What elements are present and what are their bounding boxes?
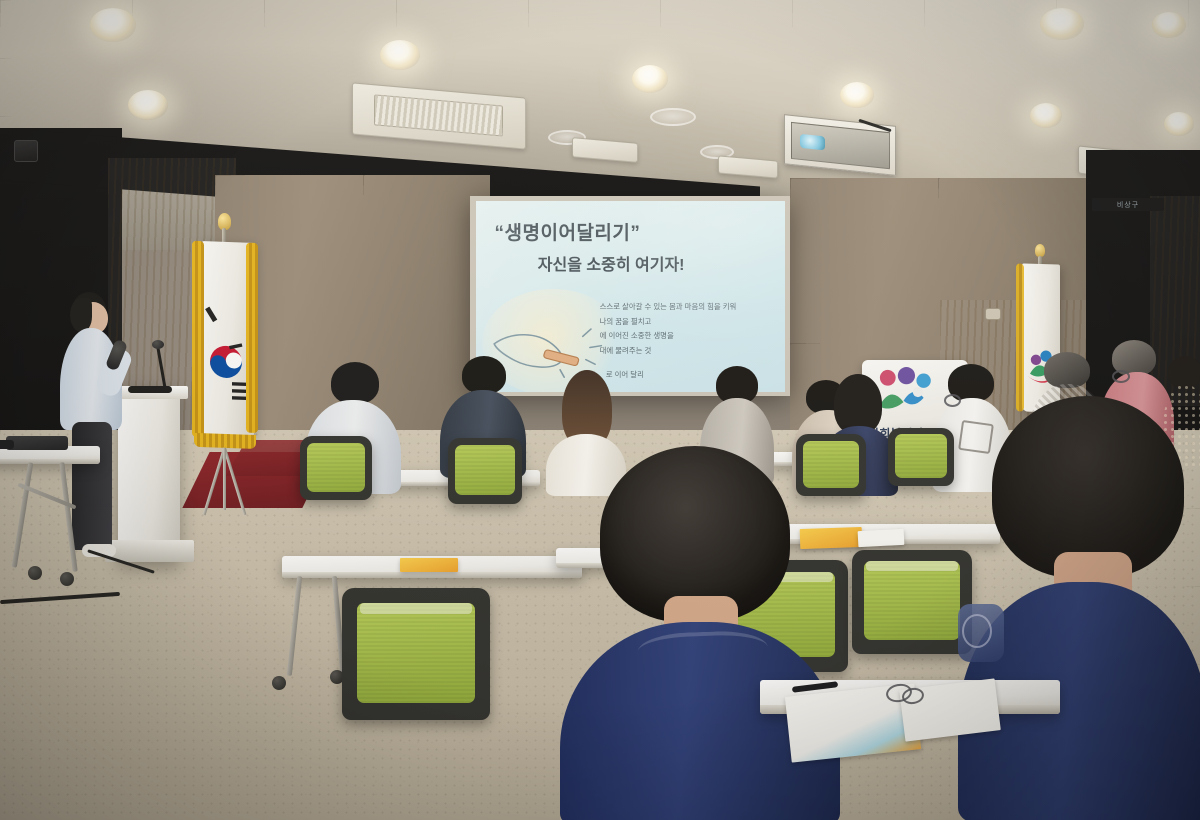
emergency-exit-sign: 비상구	[1092, 198, 1164, 211]
ceiling-downlight	[632, 65, 668, 93]
ceiling-light-ring	[650, 108, 696, 126]
flag-fringe	[192, 241, 204, 437]
attendee-hair	[331, 362, 379, 404]
podium-mic-base	[128, 386, 172, 393]
slide-body-line: 나의 꿈을 펼치고	[600, 315, 779, 329]
chair	[342, 588, 490, 720]
chair	[888, 428, 954, 486]
attendee-foreground-center	[560, 446, 840, 820]
chair-mesh	[357, 603, 475, 703]
ceiling-downlight	[90, 8, 136, 42]
lecture-room-photo: 비상구 “생명이어달리기” 자신을 소중히 여기자! 스스로 살아갈 수 있는 …	[0, 0, 1200, 820]
microphone-head	[152, 340, 164, 349]
name-card	[400, 558, 458, 572]
table-caster	[28, 566, 42, 580]
chair	[300, 436, 372, 500]
flag-tripod-leg	[223, 448, 226, 510]
flag-cloth	[202, 241, 254, 439]
chair	[448, 438, 522, 504]
slide-body-line: 스스로 살아갈 수 있는 몸과 마음의 힘을 키워	[600, 300, 779, 314]
ceiling-downlight	[128, 90, 168, 120]
projector-lens	[800, 134, 825, 151]
attendee-gray-hair	[1044, 352, 1090, 388]
chair-mesh	[864, 561, 960, 640]
slide-body-line: 대에 물려주는 것	[600, 344, 779, 358]
attendee-foreground-right	[958, 396, 1200, 820]
table-edge	[282, 572, 582, 578]
slide-subtitle: 자신을 소중히 여기자!	[538, 251, 779, 275]
attendee-hair	[992, 396, 1184, 578]
ceiling-downlight	[1030, 103, 1062, 128]
chair-top-bar	[866, 561, 957, 570]
remote-control	[0, 440, 14, 449]
table-caster	[60, 572, 74, 586]
flag-fringe	[1016, 263, 1024, 411]
presenter-laptop	[6, 436, 68, 450]
uniform-emblem	[962, 614, 992, 648]
attendee-long-hair	[834, 374, 882, 434]
presenter-hair-back	[70, 298, 92, 332]
ceiling-downlight	[380, 40, 420, 70]
wall-speaker-icon	[14, 140, 38, 162]
chair-mesh	[455, 445, 514, 495]
attendee-collar	[637, 630, 768, 679]
slide-body-line: 에 이어진 소중한 생명을	[600, 329, 779, 343]
attendee-glasses	[1112, 370, 1130, 383]
projector-body	[791, 122, 890, 169]
chair-mesh	[895, 434, 948, 478]
presenter-trousers	[72, 422, 112, 550]
chair-mesh	[307, 443, 365, 492]
flag-fringe	[246, 243, 258, 433]
slide-body-text: 스스로 살아갈 수 있는 몸과 마음의 힘을 키워 나의 꿈을 펼치고 에 이어…	[600, 300, 779, 358]
ac-grille	[374, 94, 503, 136]
chair	[852, 550, 972, 654]
ceiling-downlight	[840, 82, 874, 108]
ceiling-downlight	[1040, 8, 1084, 40]
ceiling-downlight	[1152, 12, 1186, 38]
table-caster	[272, 676, 286, 690]
table-edge	[0, 459, 100, 464]
ceiling-downlight	[1164, 112, 1194, 136]
handout-paper	[858, 529, 905, 547]
attendee-hair	[462, 356, 506, 394]
wall-switch-plate	[985, 308, 1001, 320]
exit-sign-label: 비상구	[1117, 200, 1139, 210]
slide-title: “생명이어달리기”	[495, 218, 779, 245]
chair-top-bar	[360, 603, 472, 615]
